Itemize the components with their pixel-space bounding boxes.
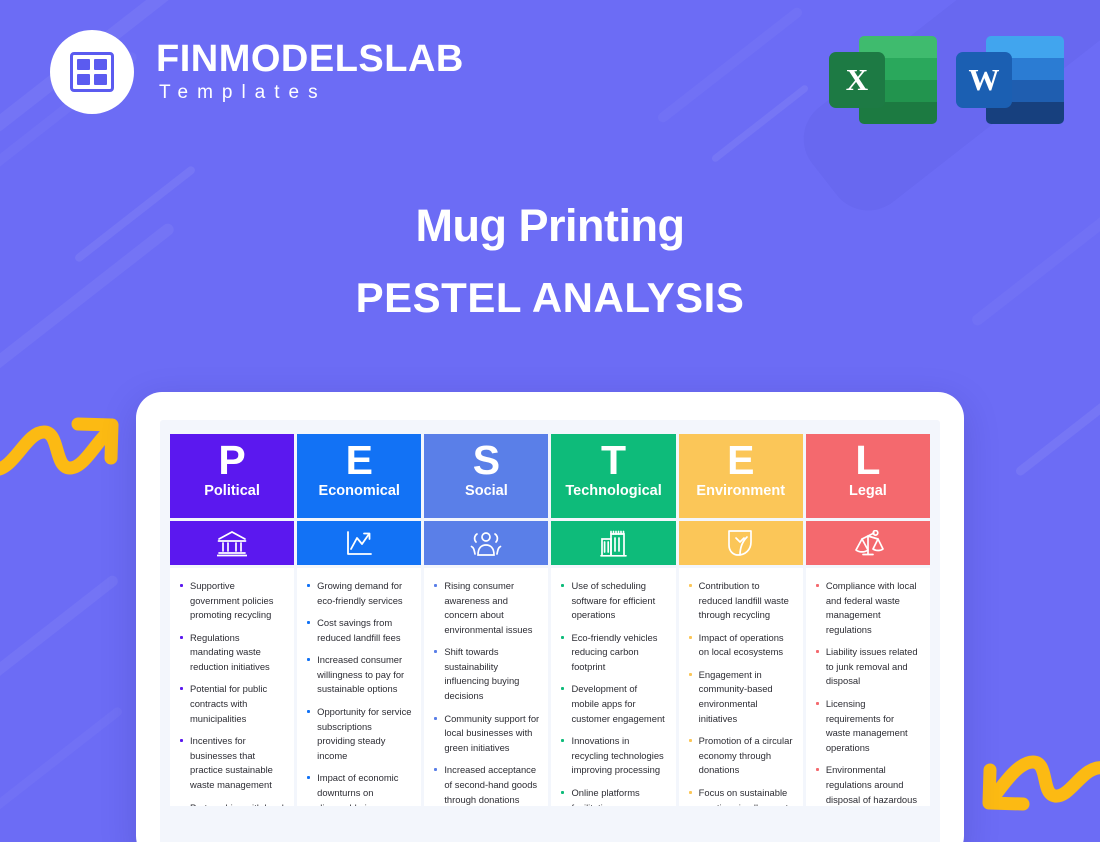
- point-item: Contribution to reduced landfill waste t…: [686, 579, 794, 623]
- point-item: Increased consumer willingness to pay fo…: [304, 653, 412, 697]
- page-subtitle: PESTEL ANALYSIS: [0, 274, 1100, 322]
- column-letter: S: [473, 440, 500, 482]
- line-chart-icon: [297, 521, 421, 565]
- column-body-political: Supportive government policies promoting…: [170, 568, 294, 806]
- point-item: Supportive government policies promoting…: [177, 579, 285, 623]
- point-item: Liability issues related to junk removal…: [813, 645, 921, 689]
- column-name: Environment: [696, 483, 785, 499]
- points-list-environment: Contribution to reduced landfill waste t…: [686, 579, 794, 806]
- points-list-political: Supportive government policies promoting…: [177, 579, 285, 806]
- brand-tagline: Templates: [159, 82, 464, 104]
- column-letter: T: [601, 440, 626, 482]
- column-name: Legal: [849, 483, 887, 499]
- point-item: Partnerships with local governments for …: [177, 801, 285, 806]
- column-header-social: S Social: [424, 434, 548, 518]
- point-item: Cost savings from reduced landfill fees: [304, 616, 412, 645]
- column-header-economical: E Economical: [297, 434, 421, 518]
- column-body-social: Rising consumer awareness and concern ab…: [424, 568, 548, 806]
- column-body-legal: Compliance with local and federal waste …: [806, 568, 930, 806]
- pestel-matrix: P Political: [170, 434, 930, 806]
- point-item: Potential for public contracts with muni…: [177, 682, 285, 726]
- point-item: Opportunity for service subscriptions pr…: [304, 705, 412, 763]
- grid-logo-icon: [50, 30, 134, 114]
- point-item: Rising consumer awareness and concern ab…: [431, 579, 539, 637]
- points-list-technological: Use of scheduling software for efficient…: [558, 579, 666, 806]
- format-icons: X W: [829, 28, 1048, 120]
- leaf-eco-icon: [679, 521, 803, 565]
- word-icon: W: [956, 28, 1048, 120]
- point-item: Online platforms facilitating easy booki…: [558, 786, 666, 806]
- page-title: Mug Printing: [0, 200, 1100, 252]
- column-header-legal: L Legal: [806, 434, 930, 518]
- column-name: Economical: [319, 483, 400, 499]
- curved-arrow-down-left-icon: [971, 752, 1100, 842]
- column-body-environment: Contribution to reduced landfill waste t…: [679, 568, 803, 806]
- curved-arrow-up-right-icon: [0, 398, 122, 495]
- people-group-icon: [424, 521, 548, 565]
- point-item: Development of mobile apps for customer …: [558, 682, 666, 726]
- pestel-column-political[interactable]: P Political: [170, 434, 294, 806]
- point-item: Use of scheduling software for efficient…: [558, 579, 666, 623]
- column-letter: L: [855, 440, 880, 482]
- pestel-column-social[interactable]: S Social Rising: [424, 434, 548, 806]
- point-item: Engagement in community-based environmen…: [686, 668, 794, 726]
- point-item: Regulations mandating waste reduction in…: [177, 631, 285, 675]
- pestel-column-economical[interactable]: E Economical Growing demand for eco-frie…: [297, 434, 421, 806]
- point-item: Promotion of a circular economy through …: [686, 734, 794, 778]
- point-item: Innovations in recycling technologies im…: [558, 734, 666, 778]
- brush-stroke-5: [656, 6, 804, 125]
- point-item: Licensing requirements for waste managem…: [813, 697, 921, 755]
- factory-industry-icon: [551, 521, 675, 565]
- point-item: Impact of operations on local ecosystems: [686, 631, 794, 660]
- points-list-social: Rising consumer awareness and concern ab…: [431, 579, 539, 806]
- column-name: Social: [465, 483, 508, 499]
- scales-justice-icon: [806, 521, 930, 565]
- pestel-column-legal[interactable]: L Legal: [806, 434, 930, 806]
- excel-icon: X: [829, 28, 921, 120]
- column-header-technological: T Technological: [551, 434, 675, 518]
- point-item: Impact of economic downturns on disposab…: [304, 771, 412, 806]
- column-letter: E: [727, 440, 754, 482]
- point-item: Eco-friendly vehicles reducing carbon fo…: [558, 631, 666, 675]
- points-list-economical: Growing demand for eco-friendly services…: [304, 579, 412, 806]
- word-icon-letter: W: [956, 52, 1012, 108]
- brush-stroke-11: [0, 706, 124, 824]
- point-item: Community support for local businesses w…: [431, 712, 539, 756]
- poster-heading: Mug Printing PESTEL ANALYSIS: [0, 200, 1100, 322]
- column-letter: P: [218, 440, 245, 482]
- column-letter: E: [346, 440, 373, 482]
- column-header-environment: E Environment: [679, 434, 803, 518]
- brand-logo: FINMODELSLAB Templates: [50, 30, 464, 114]
- brush-stroke-6: [711, 84, 810, 163]
- point-item: Focus on sustainable practices in all as…: [686, 786, 794, 806]
- brush-stroke-10: [0, 573, 120, 717]
- column-name: Political: [204, 483, 260, 499]
- point-item: Increased acceptance of second-hand good…: [431, 763, 539, 806]
- column-header-political: P Political: [170, 434, 294, 518]
- point-item: Growing demand for eco-friendly services: [304, 579, 412, 608]
- column-body-economical: Growing demand for eco-friendly services…: [297, 568, 421, 806]
- points-list-legal: Compliance with local and federal waste …: [813, 579, 921, 806]
- pestel-column-technological[interactable]: T Technological: [551, 434, 675, 806]
- bank-institution-icon: [170, 521, 294, 565]
- point-item: Shift towards sustainability influencing…: [431, 645, 539, 703]
- tablet-device: P Political: [136, 392, 964, 842]
- point-item: Environmental regulations around disposa…: [813, 763, 921, 806]
- excel-icon-letter: X: [829, 52, 885, 108]
- brush-stroke-9: [1014, 372, 1100, 478]
- pestel-column-environment[interactable]: E Environment Contribution to reduced la…: [679, 434, 803, 806]
- column-body-technological: Use of scheduling software for efficient…: [551, 568, 675, 806]
- column-name: Technological: [565, 483, 661, 499]
- point-item: Incentives for businesses that practice …: [177, 734, 285, 792]
- tablet-screen: P Political: [160, 420, 940, 842]
- point-item: Compliance with local and federal waste …: [813, 579, 921, 637]
- brand-name: FINMODELSLAB: [156, 40, 464, 80]
- poster-canvas: FINMODELSLAB Templates X W Mug Printing …: [0, 0, 1100, 842]
